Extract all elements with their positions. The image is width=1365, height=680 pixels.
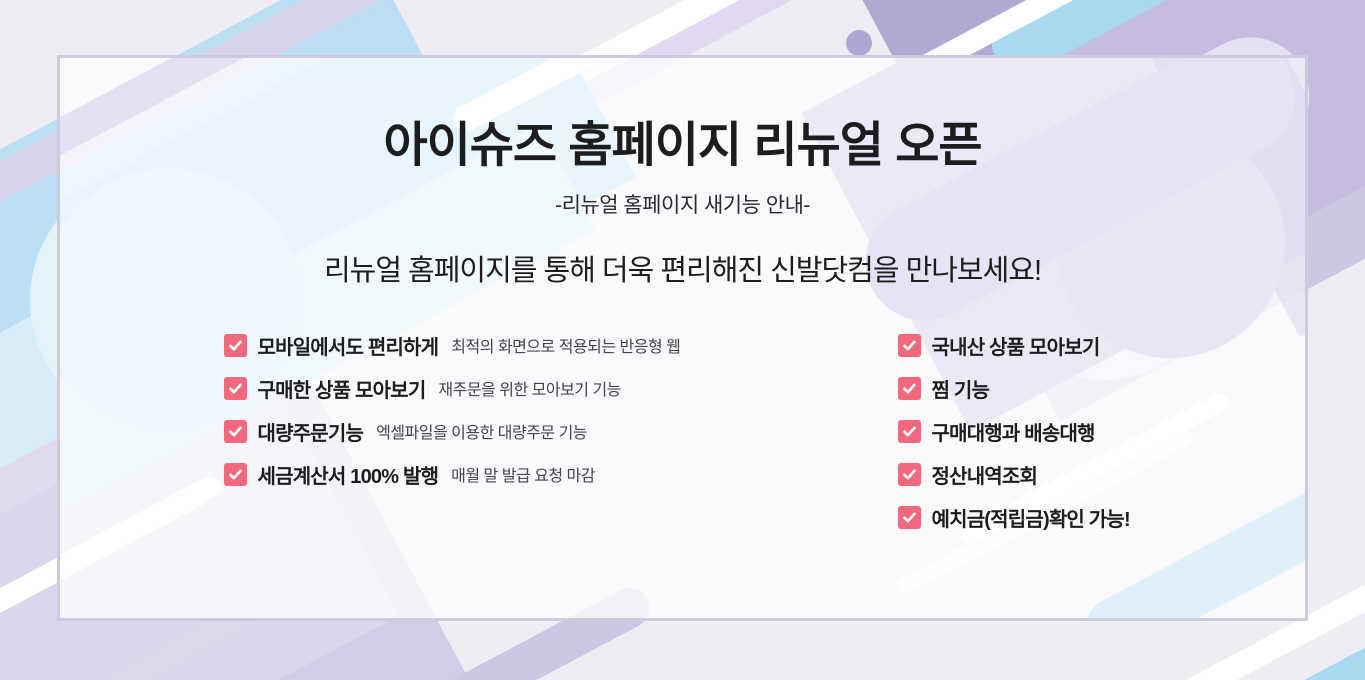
feature-item: 모바일에서도 편리하게 최적의 화면으로 적용되는 반응형 웹: [224, 331, 844, 360]
feature-title: 찜 기능: [932, 374, 990, 403]
feature-item: 구매한 상품 모아보기 재주문을 위한 모아보기 기능: [224, 374, 844, 403]
checkbox-checked-icon: [898, 463, 921, 486]
feature-list: 모바일에서도 편리하게 최적의 화면으로 적용되는 반응형 웹 구매한 상품 모…: [60, 331, 1305, 532]
banner-subtitle: -리뉴얼 홈페이지 새기능 안내-: [555, 189, 810, 219]
feature-title: 정산내역조회: [932, 460, 1038, 489]
feature-description: 재주문을 위한 모아보기 기능: [438, 376, 620, 400]
banner-tagline: 리뉴얼 홈페이지를 통해 더욱 편리해진 신발닷컴을 만나보세요!: [324, 247, 1041, 289]
banner-content: 아이슈즈 홈페이지 리뉴얼 오픈 -리뉴얼 홈페이지 새기능 안내- 리뉴얼 홈…: [60, 58, 1305, 618]
feature-description: 매월 말 발급 요청 마감: [451, 462, 595, 486]
checkbox-checked-icon: [224, 463, 247, 486]
feature-item: 예치금(적립금)확인 가능!: [898, 503, 1228, 532]
feature-item: 세금계산서 100% 발행 매월 말 발급 요청 마감: [224, 460, 844, 489]
checkbox-checked-icon: [898, 506, 921, 529]
feature-title: 국내산 상품 모아보기: [932, 331, 1100, 360]
feature-item: 구매대행과 배송대행: [898, 417, 1228, 446]
feature-title: 모바일에서도 편리하게: [258, 331, 439, 360]
feature-item: 국내산 상품 모아보기: [898, 331, 1228, 360]
content-panel: 아이슈즈 홈페이지 리뉴얼 오픈 -리뉴얼 홈페이지 새기능 안내- 리뉴얼 홈…: [57, 55, 1308, 621]
banner-title: 아이슈즈 홈페이지 리뉴얼 오픈: [383, 120, 981, 173]
checkbox-checked-icon: [898, 334, 921, 357]
checkbox-checked-icon: [224, 377, 247, 400]
feature-title: 대량주문기능: [258, 417, 364, 446]
feature-description: 엑셀파일을 이용한 대량주문 기능: [376, 419, 587, 443]
feature-item: 대량주문기능 엑셀파일을 이용한 대량주문 기능: [224, 417, 844, 446]
promo-banner: 아이슈즈 홈페이지 리뉴얼 오픈 -리뉴얼 홈페이지 새기능 안내- 리뉴얼 홈…: [0, 0, 1365, 680]
feature-item: 찜 기능: [898, 374, 1228, 403]
feature-title: 예치금(적립금)확인 가능!: [932, 503, 1130, 532]
feature-title: 구매한 상품 모아보기: [258, 374, 426, 403]
feature-item: 정산내역조회: [898, 460, 1228, 489]
deco-blue-bar-top: [313, 0, 717, 30]
feature-column-right: 국내산 상품 모아보기 찜 기능 구매대행과 배: [898, 331, 1228, 532]
checkbox-checked-icon: [224, 334, 247, 357]
feature-title: 구매대행과 배송대행: [932, 417, 1095, 446]
checkbox-checked-icon: [898, 420, 921, 443]
deco-purple-dot-medium: [846, 30, 872, 56]
feature-title: 세금계산서 100% 발행: [258, 460, 439, 489]
checkbox-checked-icon: [224, 420, 247, 443]
feature-description: 최적의 화면으로 적용되는 반응형 웹: [451, 333, 680, 357]
feature-column-left: 모바일에서도 편리하게 최적의 화면으로 적용되는 반응형 웹 구매한 상품 모…: [224, 331, 844, 532]
checkbox-checked-icon: [898, 377, 921, 400]
